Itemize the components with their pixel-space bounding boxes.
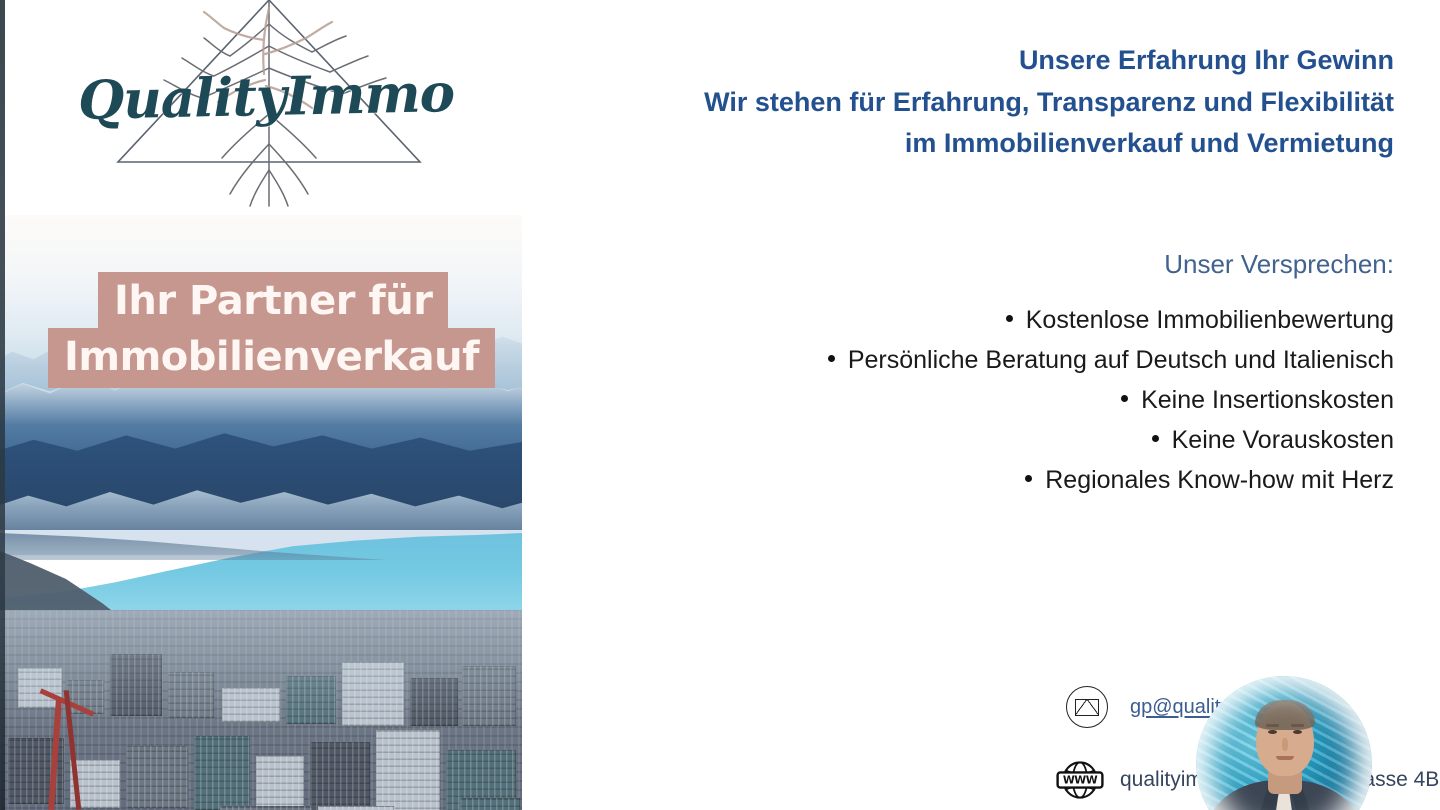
building (376, 730, 440, 810)
envelope-glyph (1075, 699, 1099, 716)
promise-list: Kostenlose Immobilienbewertung Persönlic… (534, 300, 1394, 500)
building (126, 746, 188, 808)
svg-text:WWW: WWW (1063, 774, 1098, 787)
headline-1: Unsere Erfahrung Ihr Gewinn (534, 40, 1394, 82)
promise-item-text: Persönliche Beratung auf Deutsch und Ita… (848, 346, 1394, 374)
banner-line-2: Immobilienverkauf (48, 328, 495, 388)
building (256, 756, 304, 810)
block (220, 806, 312, 810)
bullet-icon (1121, 395, 1128, 402)
building (342, 662, 404, 726)
list-item: Regionales Know-how mit Herz (534, 460, 1394, 500)
logo-wordmark: QualityImmo (85, 48, 447, 146)
tower (460, 798, 520, 810)
building (410, 678, 458, 726)
promise-title: Unser Versprechen: (1164, 249, 1394, 280)
list-item: Persönliche Beratung auf Deutsch und Ita… (534, 340, 1394, 380)
building (286, 676, 336, 724)
logo-block: QualityImmo (0, 0, 522, 215)
building (222, 688, 280, 722)
headline-block: Unsere Erfahrung Ihr Gewinn Wir stehen f… (534, 40, 1394, 165)
left-panel: QualityImmo (0, 0, 522, 810)
left-edge-strip (0, 0, 5, 810)
promise-item-text: Keine Vorauskosten (1172, 426, 1394, 454)
promise-item-text: Regionales Know-how mit Herz (1045, 466, 1394, 494)
headline-3: im Immobilienverkauf und Vermietung (534, 123, 1394, 165)
envelope-icon (1066, 686, 1108, 728)
building (194, 736, 250, 810)
tower (318, 806, 394, 810)
bullet-icon (1025, 475, 1032, 482)
bullet-icon (1152, 435, 1159, 442)
list-item: Keine Insertionskosten (534, 380, 1394, 420)
flyer-page: QualityImmo (0, 0, 1440, 810)
www-globe-icon: WWW (1054, 760, 1106, 800)
list-item: Kostenlose Immobilienbewertung (534, 300, 1394, 340)
building (110, 654, 162, 716)
headline-2: Wir stehen für Erfahrung, Transparenz un… (534, 82, 1394, 124)
building (310, 742, 370, 810)
promise-item-text: Kostenlose Immobilienbewertung (1026, 306, 1394, 334)
banner-line-1: Ihr Partner für (98, 272, 448, 332)
building (168, 672, 214, 718)
building (462, 666, 516, 726)
bullet-icon (1006, 315, 1013, 322)
promise-item-text: Keine Insertionskosten (1141, 386, 1394, 414)
bullet-icon (828, 355, 835, 362)
list-item: Keine Vorauskosten (534, 420, 1394, 460)
